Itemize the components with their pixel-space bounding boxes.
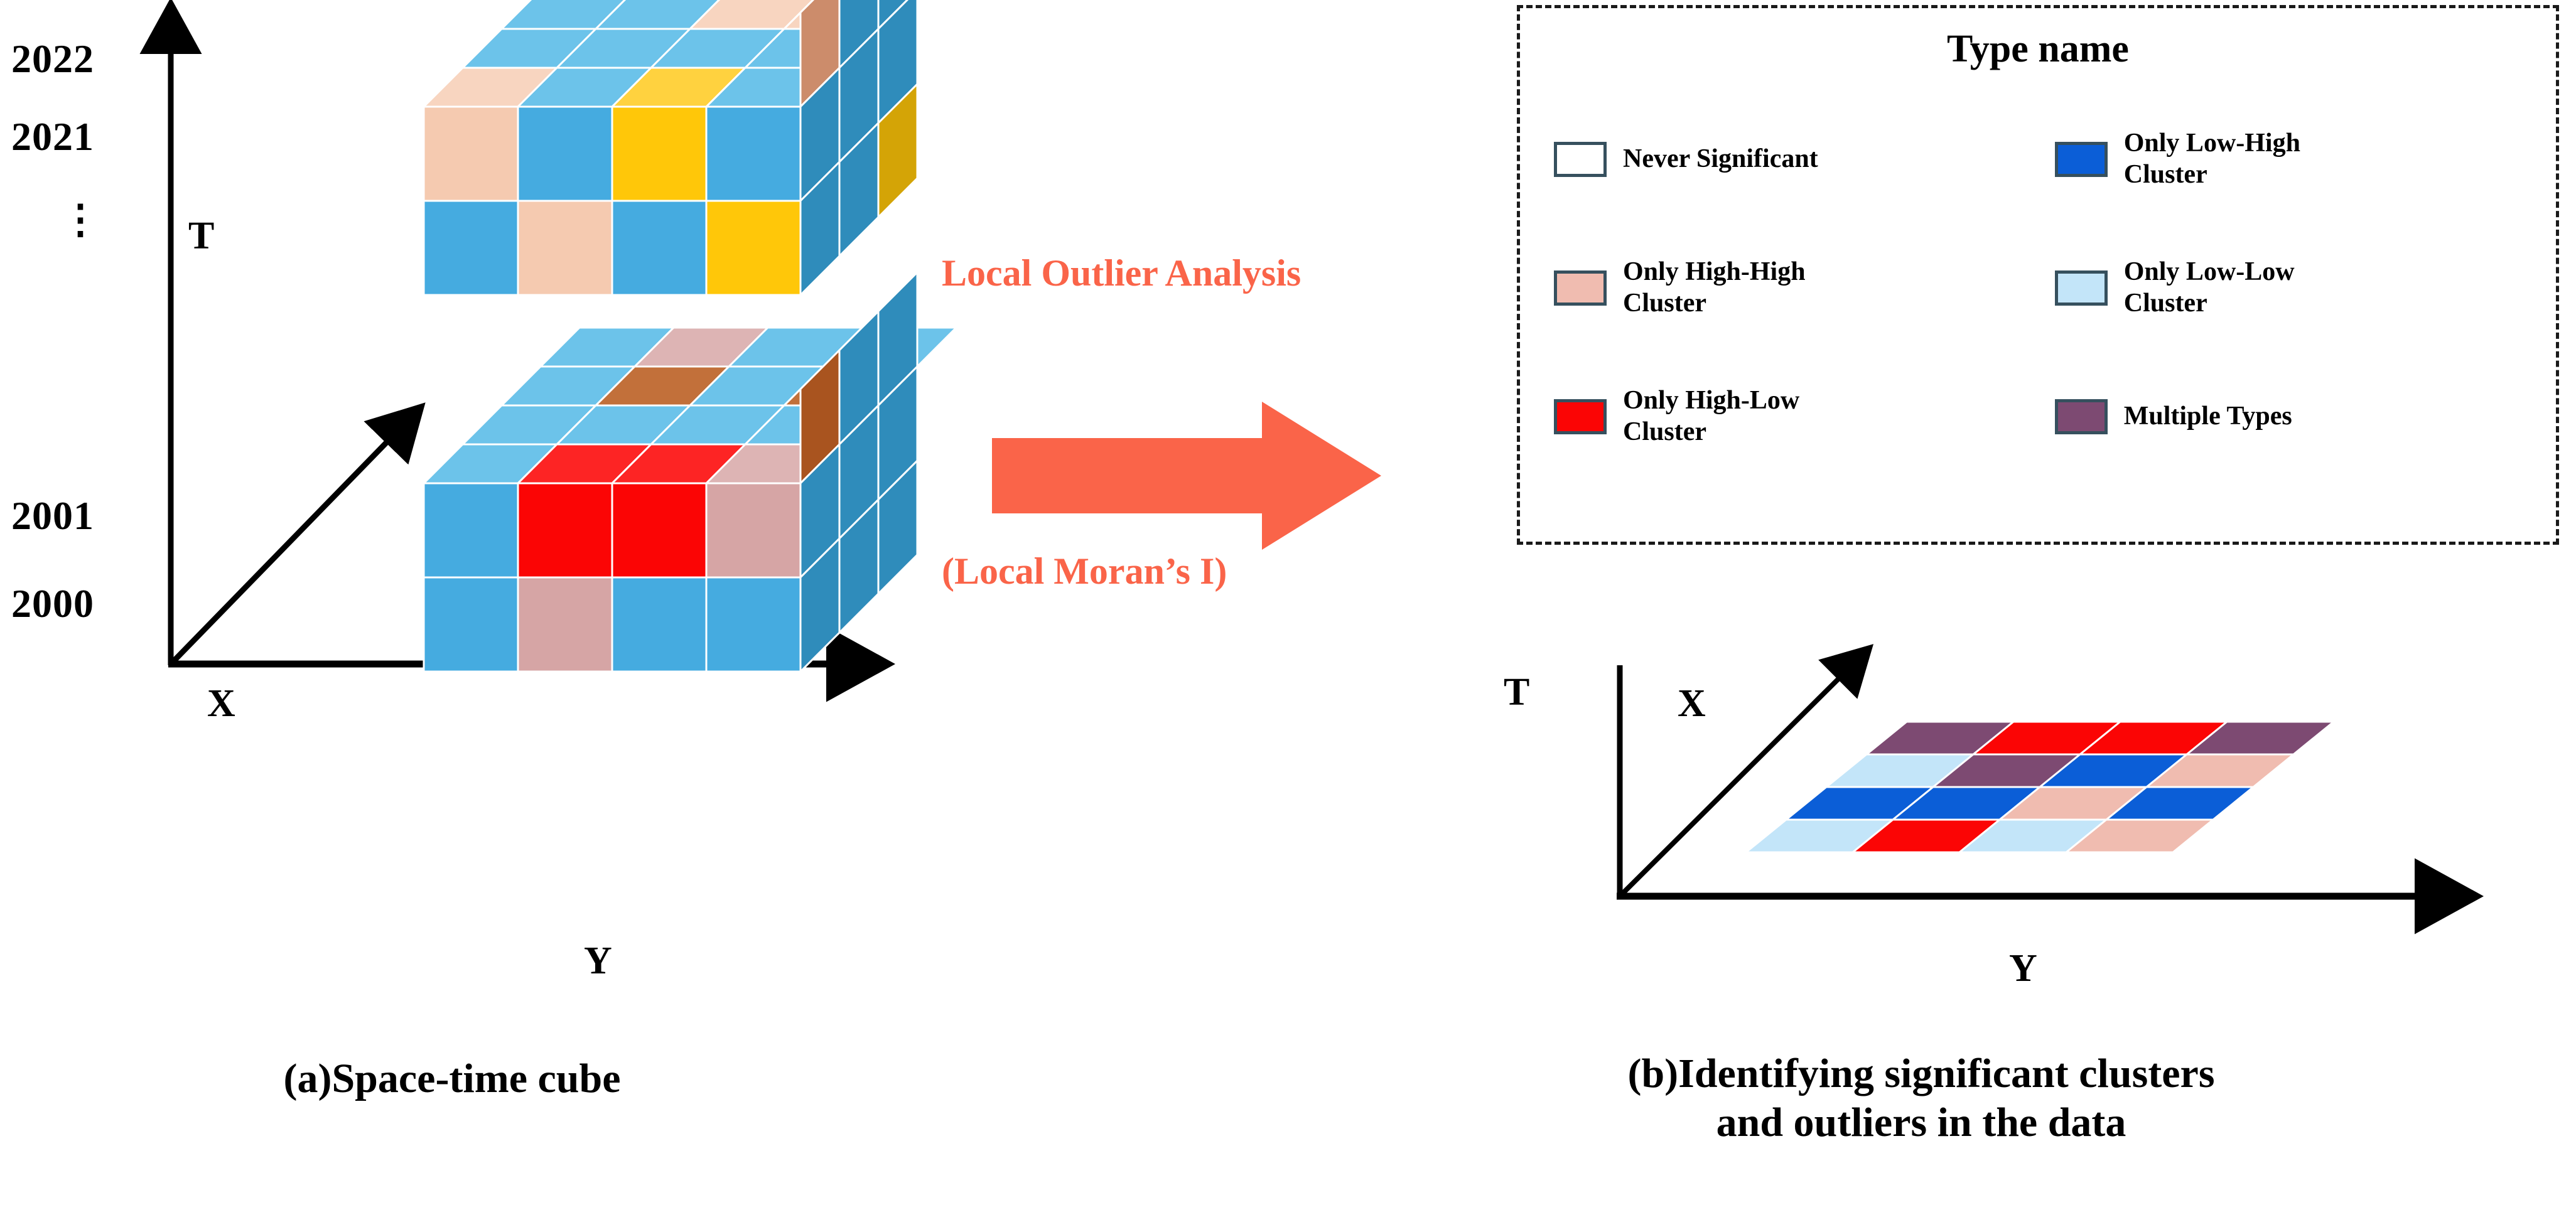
cube-front-cell [612,577,706,672]
cube-front-cell [706,201,800,295]
legend-item-only-high-low[interactable]: Only High-LowCluster [1554,352,1818,481]
legend-swatch-multiple-types [2055,399,2108,434]
cube-front-cell [518,201,612,295]
cube-front-cell [706,483,800,577]
cube-front-cell [424,107,518,201]
cube-front-cell [424,201,518,295]
legend-title: Type name [1520,29,2556,68]
cube-front-cell [706,107,800,201]
panel-a-axis-label-x: X [207,684,235,723]
cube-front-cell [612,201,706,295]
legend-panel: Type name Never Significant Only Low-Hig… [1517,5,2559,545]
cube-front-cell [612,107,706,201]
cube-front-cell [518,483,612,577]
legend-swatch-never-significant [1554,142,1607,177]
legend-swatch-only-low-low [2055,270,2108,306]
panel-b-axis-label-t: T [1504,673,1529,712]
upper-space-time-cube [411,0,926,326]
right-arrow [992,402,1381,552]
legend-swatch-only-high-high [1554,270,1607,306]
legend-label-only-low-high: Only Low-HighCluster [2124,128,2300,190]
year-label-2000: 2000 [11,584,94,624]
legend-label-only-low-low: Only Low-LowCluster [2124,257,2295,319]
year-label-2022: 2022 [11,39,94,79]
lower-space-time-cube [411,377,926,690]
panel-b-axis-label-x: X [1678,684,1706,723]
legend-swatch-only-high-low [1554,399,1607,434]
legend-swatch-only-low-high [2055,142,2108,177]
legend-item-only-low-high[interactable]: Only Low-HighCluster [2055,95,2300,223]
cube-front-cell [424,483,518,577]
legend-label-only-high-low: Only High-LowCluster [1623,385,1799,447]
panel-b-axis-label-y: Y [2009,949,2037,988]
transform-subtitle: (Local Moran’s I) [942,552,1227,590]
cluster-plane-grid [1783,715,2336,879]
cube-front-cell [612,483,706,577]
legend-label-never-significant: Never Significant [1623,144,1818,175]
legend-label-only-high-high: Only High-HighCluster [1623,257,1806,319]
legend-item-multiple-types[interactable]: Multiple Types [2055,352,2300,481]
year-label-2021: 2021 [11,117,94,157]
panel-a-axis-label-y: Y [584,941,612,980]
cube-front-cell [706,577,800,672]
cube-front-cell [518,577,612,672]
legend-item-never-significant[interactable]: Never Significant [1554,95,1818,223]
cube-front-cell [424,577,518,672]
year-vertical-ellipsis: ⋮ [60,200,100,240]
panel-a-caption: (a)Space-time cube [88,1054,816,1103]
panel-b-caption: (b)Identifying significant clustersand o… [1419,1049,2423,1147]
legend-item-only-high-high[interactable]: Only High-HighCluster [1554,223,1818,352]
legend-item-only-low-low[interactable]: Only Low-LowCluster [2055,223,2300,352]
legend-label-multiple-types: Multiple Types [2124,401,2292,432]
cube-front-cell [518,107,612,201]
panel-a-axis-label-t: T [188,217,214,255]
year-label-2001: 2001 [11,496,94,536]
transform-title: Local Outlier Analysis [942,254,1301,292]
